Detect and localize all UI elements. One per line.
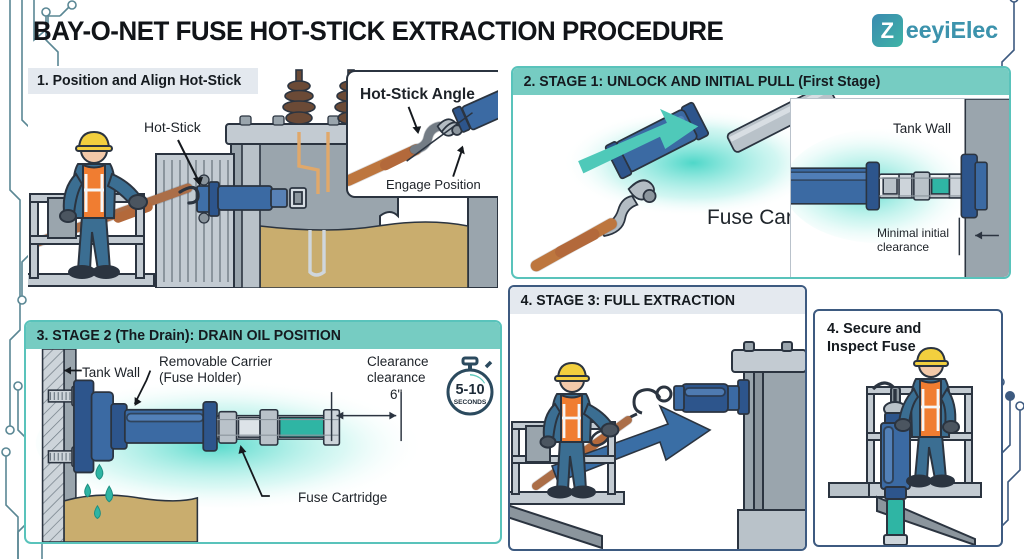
infographic-canvas: BAY-O-NET FUSE HOT-STICK EXTRACTION PROC…: [0, 0, 1024, 559]
panel-3-stage-2-drain: 3. STAGE 2 (The Drain): DRAIN OIL POSITI…: [24, 320, 502, 544]
logo-z-icon: Z: [872, 14, 903, 47]
brand-logo: Z eeyiElec: [872, 14, 998, 47]
stopwatch-value: 5-10: [455, 382, 484, 398]
panel-5-secure-and-inspect: 4. Secure and Inspect Fuse: [813, 309, 1003, 547]
page-title: BAY-O-NET FUSE HOT-STICK EXTRACTION PROC…: [33, 16, 723, 47]
stopwatch-unit: SECONDS: [454, 399, 487, 406]
hot-stick-angle-inset: Hot-Stick Angle Engage Position: [346, 70, 498, 198]
panel-5-title: 4. Secure and Inspect Fuse: [827, 320, 921, 356]
panel-4-title: 4. STAGE 3: FULL EXTRACTION: [510, 293, 735, 309]
tank-wall-illustration: [791, 99, 1010, 278]
panel-4-stage-3-full-extraction: 4. STAGE 3: FULL EXTRACTION: [508, 285, 807, 551]
tank-wall-inset: Tank Wall Minimal initial clearance: [790, 98, 1011, 279]
panel-3-header-bar: 3. STAGE 2 (The Drain): DRAIN OIL POSITI…: [26, 322, 500, 349]
panel-1-title: 1. Position and Align Hot-Stick: [37, 73, 241, 89]
stopwatch-badge: 5-10 SECONDS: [439, 356, 501, 418]
panel-1-header-bar: 1. Position and Align Hot-Stick: [28, 68, 258, 94]
panel-2-header-bar: 2. STAGE 1: UNLOCK AND INITIAL PULL (Fir…: [513, 68, 1009, 95]
panel-3-illustration: [26, 349, 500, 542]
logo-wordmark: eeyiElec: [906, 17, 998, 44]
panel-3-title: 3. STAGE 2 (The Drain): DRAIN OIL POSITI…: [26, 328, 341, 344]
panel-4-illustration: [510, 314, 805, 549]
panel-2-stage-1-unlock: 2. STAGE 1: UNLOCK AND INITIAL PULL (Fir…: [511, 66, 1011, 279]
panel-4-header-bar: 4. STAGE 3: FULL EXTRACTION: [510, 287, 805, 314]
hot-stick-angle-leader: [348, 72, 498, 196]
panel-2-title: 2. STAGE 1: UNLOCK AND INITIAL PULL (Fir…: [513, 74, 880, 90]
panel-1-position-and-align: 1. Position and Align Hot-Stick Hot-Stic…: [28, 66, 498, 288]
page-header: BAY-O-NET FUSE HOT-STICK EXTRACTION PROC…: [0, 0, 1024, 62]
